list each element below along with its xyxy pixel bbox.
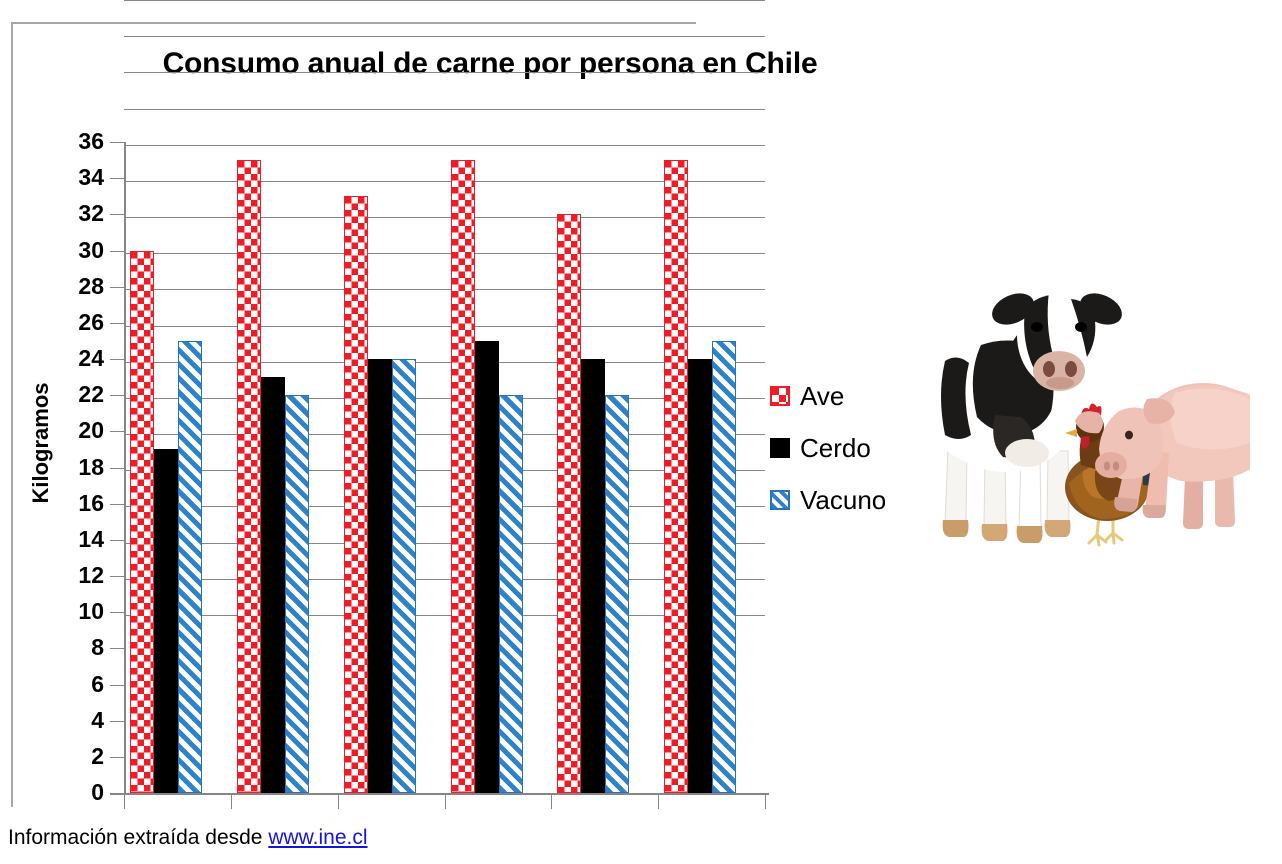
y-axis-tick [110,178,124,179]
bar-group [237,142,309,793]
bar-vacuno[interactable] [499,395,523,793]
y-axis-tick-label: 16 [58,492,104,515]
y-axis-tick [110,504,124,505]
y-axis-tick-label: 0 [58,781,104,804]
y-axis-tick-label: 14 [58,528,104,551]
y-axis-tick-label: 4 [58,709,104,732]
y-axis-tick-label: 30 [58,239,104,262]
y-axis-tick [110,721,124,722]
legend-swatch-ave-icon [770,386,790,406]
caption-text: Información extraída desde [8,826,268,849]
legend-item-ave[interactable]: Ave [770,370,900,422]
legend-label: Cerdo [800,435,871,461]
y-axis-tick [110,468,124,469]
bar-ave[interactable] [557,214,581,793]
y-axis-tick-labels: 363432302826242220181614121086420 [46,0,104,812]
x-axis-separator [765,793,766,809]
legend-item-cerdo[interactable]: Cerdo [770,422,900,474]
y-axis-title: Kilogramos [28,358,54,528]
bar-cerdo[interactable] [154,449,178,793]
bar-cerdo[interactable] [475,341,499,793]
bar-ave[interactable] [130,251,154,794]
y-axis-tick [110,251,124,252]
bar-cerdo[interactable] [581,359,605,793]
y-axis-tick [110,576,124,577]
chart-title: Consumo anual de carne por persona en Ch… [120,44,860,84]
y-axis-tick [110,685,124,686]
x-axis-separator [338,793,339,809]
y-axis-tick [110,287,124,288]
bar-cerdo[interactable] [688,359,712,793]
y-axis-tick [110,214,124,215]
y-axis-tick-label: 34 [58,166,104,189]
x-axis-separator [658,793,659,809]
y-axis-tick [110,431,124,432]
x-axis-separator [231,793,232,809]
bar-group [451,142,523,793]
gridline [124,72,765,73]
gridline [124,109,765,110]
y-axis-tick-label: 6 [58,673,104,696]
bar-ave[interactable] [237,160,261,793]
x-axis-separator [551,793,552,809]
y-axis-tick [110,757,124,758]
bar-vacuno[interactable] [285,395,309,793]
legend-label: Vacuno [800,487,886,513]
legend-label: Ave [800,383,844,409]
plot-area [124,142,765,793]
bar-vacuno[interactable] [712,341,736,793]
y-axis-tick [110,323,124,324]
bar-group [130,142,202,793]
bar-ave[interactable] [344,196,368,793]
y-axis-tick-label: 20 [58,419,104,442]
y-axis-tick [110,612,124,613]
source-link[interactable]: www.ine.cl [268,826,367,849]
y-axis-tick-label: 18 [58,456,104,479]
y-axis-tick-label: 32 [58,202,104,225]
bar-chart: Consumo anual de carne por persona en Ch… [0,0,900,812]
y-axis-tick-label: 26 [58,311,104,334]
y-axis-tick-label: 36 [58,130,104,153]
y-axis-tick [110,540,124,541]
bar-vacuno[interactable] [392,359,416,793]
y-axis-tick [110,648,124,649]
y-axis-tick [110,142,124,143]
y-axis-tick-label: 12 [58,564,104,587]
bar-ave[interactable] [664,160,688,793]
chart-legend: AveCerdoVacuno [770,370,900,526]
bar-group [344,142,416,793]
y-axis-tick-label: 10 [58,600,104,623]
bar-group [557,142,629,793]
bar-vacuno[interactable] [178,341,202,793]
bar-group [664,142,736,793]
y-axis-tick-label: 2 [58,745,104,768]
x-axis-separator [124,793,125,809]
x-axis-line [110,793,769,795]
source-caption: Información extraída desde www.ine.cl [8,826,368,850]
y-axis-tick-label: 8 [58,636,104,659]
x-axis-separator [445,793,446,809]
y-axis-tick-label: 24 [58,347,104,370]
bar-cerdo[interactable] [261,377,285,793]
gridline [124,36,765,37]
bar-cerdo[interactable] [368,359,392,793]
y-axis-tick-label: 28 [58,275,104,298]
y-axis-tick [110,359,124,360]
legend-swatch-vacuno-icon [770,490,790,510]
legend-item-vacuno[interactable]: Vacuno [770,474,900,526]
bar-vacuno[interactable] [605,395,629,793]
gridline [124,0,765,1]
y-axis-tick-label: 22 [58,383,104,406]
farm-animals-photo [885,265,1250,555]
legend-swatch-cerdo-icon [770,438,790,458]
y-axis-tick [110,395,124,396]
bar-ave[interactable] [451,160,475,793]
